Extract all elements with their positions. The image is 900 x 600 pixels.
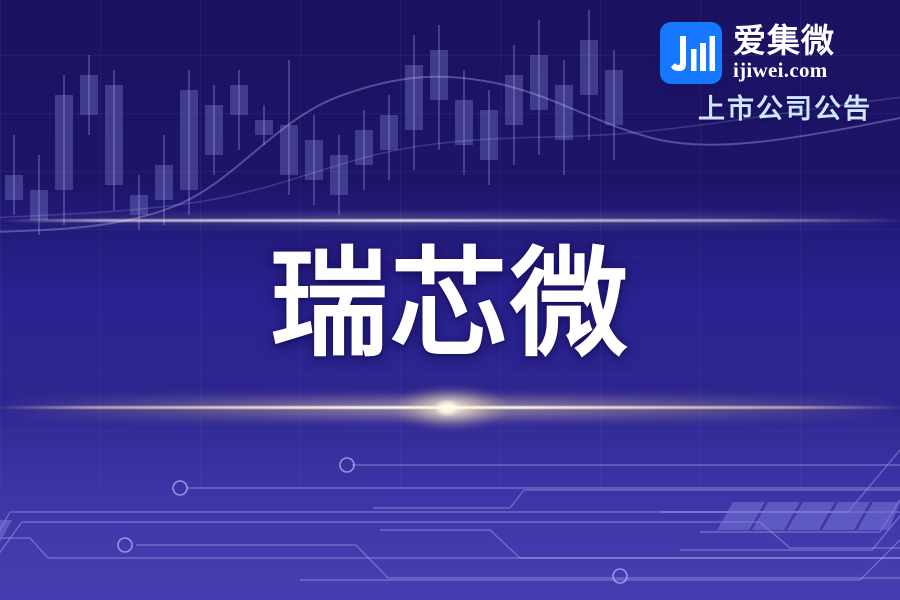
brand-name-en: ijiwei.com xyxy=(733,59,835,82)
brand-name-cn: 爱集微 xyxy=(733,24,835,58)
light-streak-spark xyxy=(436,400,458,416)
circuit-trace-decoration xyxy=(0,420,900,600)
bar-chart-j-logo-icon xyxy=(660,22,722,84)
brand-block: 爱集微 ijiwei.com 上市公司公告 xyxy=(660,22,872,125)
light-streak-halo xyxy=(0,398,900,418)
brand-logo-row: 爱集微 ijiwei.com xyxy=(660,22,872,84)
announcement-banner: 瑞芯微 爱集微 ijiwei.com 上市公司公告 xyxy=(0,0,900,600)
brand-wordmark: 爱集微 ijiwei.com xyxy=(733,24,835,82)
light-streak-core xyxy=(0,406,900,409)
section-label: 上市公司公告 xyxy=(660,93,872,125)
page-title: 瑞芯微 xyxy=(0,240,900,370)
section-divider xyxy=(0,219,900,222)
